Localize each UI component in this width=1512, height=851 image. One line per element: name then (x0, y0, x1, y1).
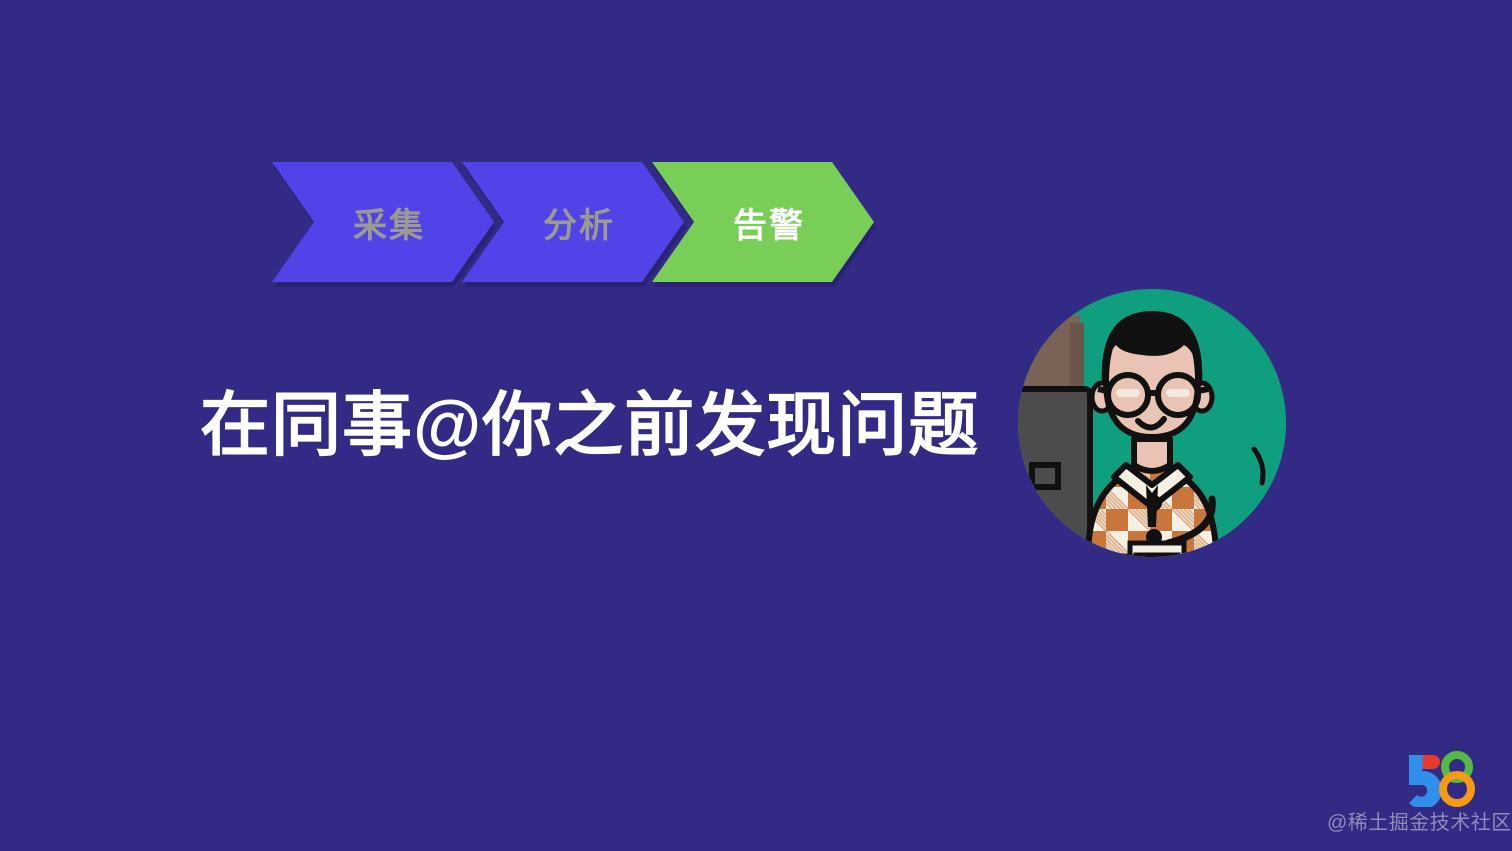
process-chevron-bar: 采集 分析 告警 (272, 162, 872, 282)
slide-headline: 在同事@你之前发现问题 (200, 386, 979, 464)
avatar-illustration (1018, 289, 1286, 557)
process-step-collect[interactable]: 采集 (272, 162, 494, 282)
process-step-alert-label: 告警 (733, 198, 805, 247)
process-step-alert[interactable]: 告警 (652, 162, 874, 282)
process-step-analyze-label: 分析 (543, 198, 615, 247)
process-step-analyze[interactable]: 分析 (462, 162, 684, 282)
58-logo (1401, 749, 1479, 807)
watermark-text: @稀土掘金技术社区 (1327, 806, 1512, 835)
slide-canvas: 采集 分析 告警 在同事@你之前发现问题 (0, 0, 1512, 851)
process-step-collect-label: 采集 (353, 198, 425, 247)
